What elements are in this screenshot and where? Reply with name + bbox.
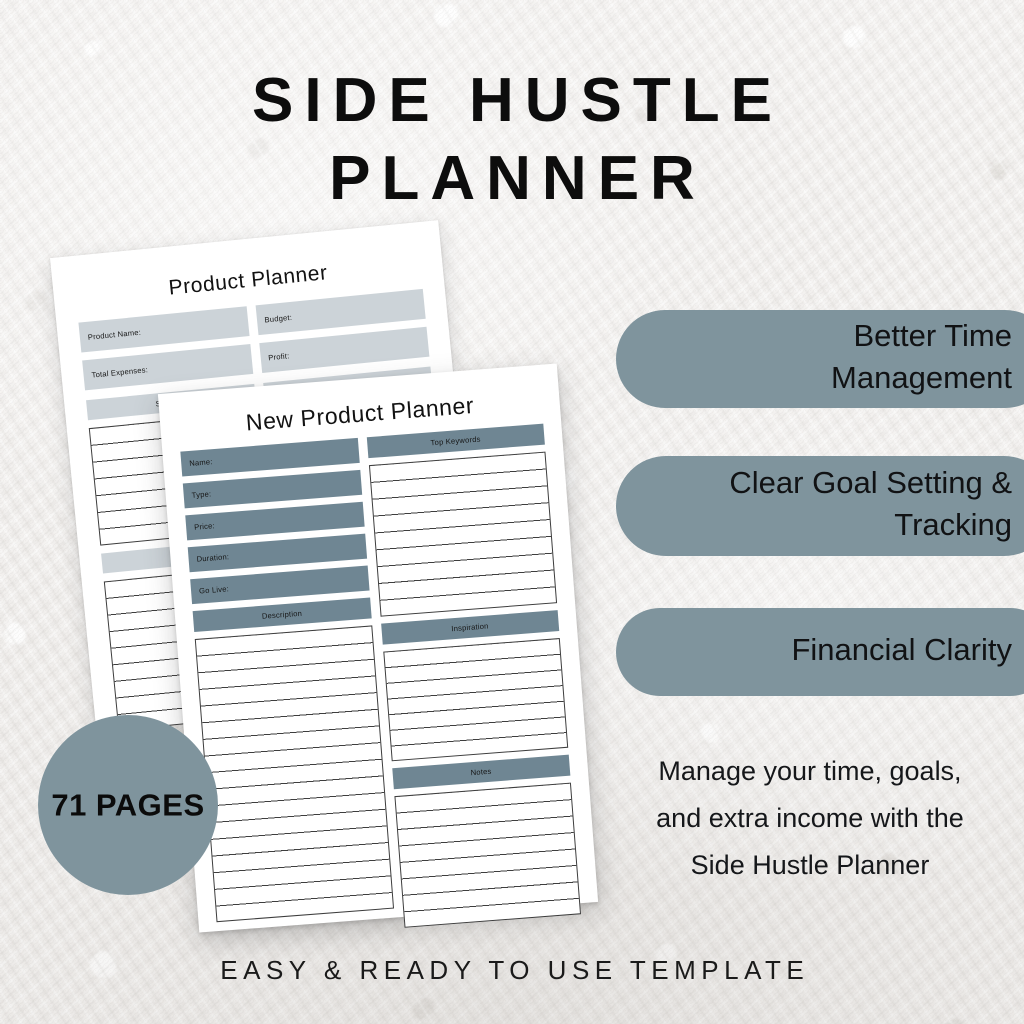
feature-0-line-1: Better Time (831, 315, 1012, 357)
product-planner-right-column: Budget: Profit: (255, 289, 429, 373)
field-name: Name: (180, 438, 359, 477)
footer-tagline: EASY & READY TO USE TEMPLATE (0, 955, 1024, 986)
top-keywords-lines (368, 452, 557, 617)
badge-label: 71 PAGES (51, 788, 204, 823)
feature-1-line-2: Tracking (729, 504, 1012, 546)
feature-1-line-1: Clear Goal Setting & (729, 462, 1012, 504)
field-profit: Profit: (259, 327, 430, 373)
description-lines (195, 625, 394, 922)
field-total-expenses: Total Expenses: (82, 344, 253, 390)
product-description: Manage your time, goals, and extra incom… (610, 748, 1010, 889)
field-type: Type: (183, 470, 362, 509)
feature-0-line-2: Management (831, 357, 1012, 399)
description-line-2: and extra income with the (610, 795, 1010, 842)
new-product-planner-columns: Name: Type: Price: Duration: Go Live: De… (180, 424, 581, 942)
feature-pill-financial-clarity: Financial Clarity (616, 608, 1024, 696)
page-title-line-1: SIDE HUSTLE (252, 66, 783, 135)
page-count-badge: 71 PAGES (38, 713, 218, 898)
notes-lines (394, 783, 581, 928)
page-title-line-2: PLANNER (0, 140, 1024, 218)
feature-pill-better-time-management: Better Time Management (616, 310, 1024, 408)
product-listing-canvas: SIDE HUSTLE PLANNER Product Planner Prod… (0, 0, 1024, 1024)
feature-pill-clear-goal-setting-tracking: Clear Goal Setting & Tracking (616, 456, 1024, 556)
page-title: SIDE HUSTLE PLANNER (0, 62, 1024, 218)
planner-page-new-product-planner: New Product Planner Name: Type: Price: D… (158, 363, 598, 932)
product-planner-left-column: Product Name: Total Expenses: (78, 306, 252, 390)
new-product-planner-right-column: Top Keywords Inspiration Notes (366, 424, 581, 928)
description-line-1: Manage your time, goals, (610, 748, 1010, 795)
field-go-live: Go Live: (190, 566, 369, 605)
description-line-3: Side Hustle Planner (610, 842, 1010, 889)
inspiration-lines (383, 638, 568, 761)
field-price: Price: (185, 502, 364, 541)
feature-2-line-1: Financial Clarity (791, 629, 1012, 671)
field-duration: Duration: (188, 534, 367, 573)
